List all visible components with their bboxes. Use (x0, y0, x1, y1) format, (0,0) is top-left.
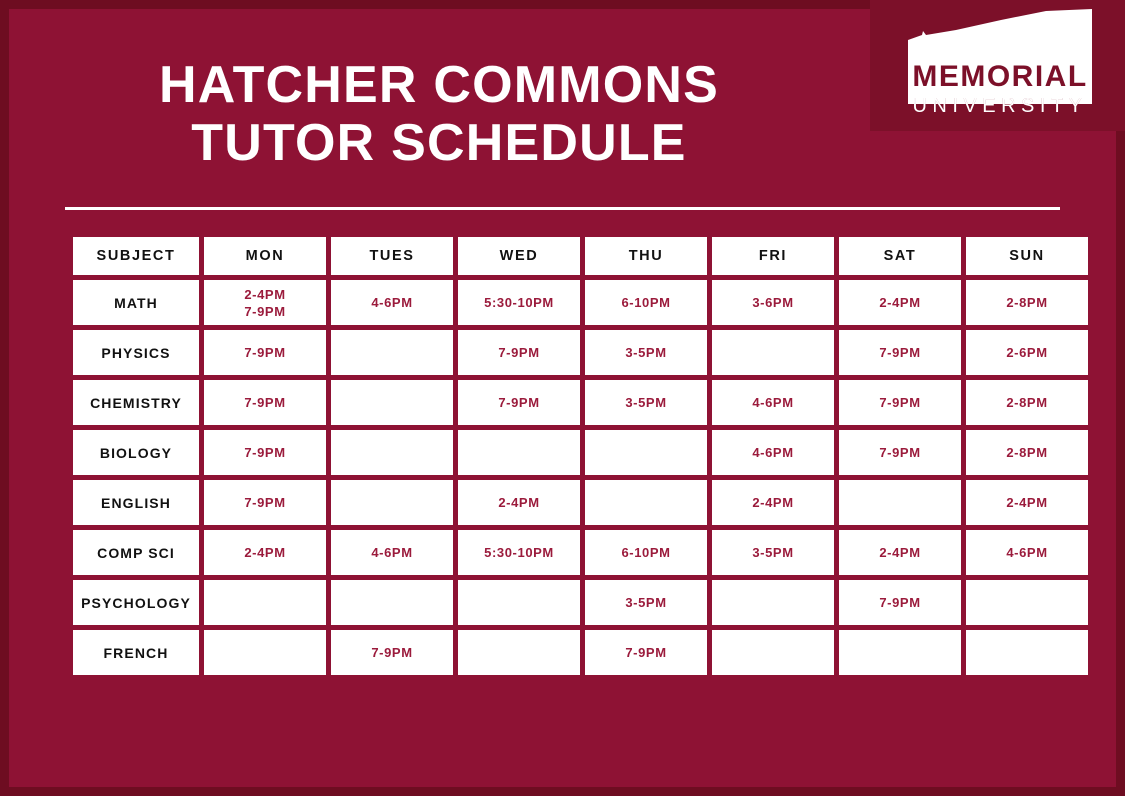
time-slot: 7-9PM (585, 644, 707, 661)
time-slot: 7-9PM (204, 394, 326, 411)
table-row: COMP SCI2-4PM4-6PM5:30-10PM6-10PM3-5PM2-… (73, 530, 1088, 575)
time-slot: 2-4PM (204, 544, 326, 561)
schedule-cell (331, 580, 453, 625)
schedule-cell: 7-9PM (585, 630, 707, 675)
schedule-cell: 7-9PM (839, 380, 961, 425)
schedule-cell: 4-6PM (966, 530, 1088, 575)
time-slot: 7-9PM (839, 394, 961, 411)
column-header-fri: FRI (712, 237, 834, 275)
schedule-cell: 4-6PM (331, 280, 453, 325)
time-slot: 7-9PM (458, 344, 580, 361)
subject-cell: ENGLISH (73, 480, 199, 525)
table-row: ENGLISH7-9PM2-4PM2-4PM2-4PM (73, 480, 1088, 525)
table-row: BIOLOGY7-9PM4-6PM7-9PM2-8PM (73, 430, 1088, 475)
tutor-schedule-poster: HATCHER COMMONS TUTOR SCHEDULE MEMORIAL … (0, 0, 1125, 796)
time-slot: 4-6PM (712, 444, 834, 461)
schedule-cell: 2-8PM (966, 380, 1088, 425)
time-slot: 2-4PM (712, 494, 834, 511)
schedule-cell: 2-8PM (966, 430, 1088, 475)
schedule-cell (712, 330, 834, 375)
schedule-cell (839, 630, 961, 675)
schedule-cell: 3-6PM (712, 280, 834, 325)
schedule-cell (966, 580, 1088, 625)
schedule-cell: 2-4PM (966, 480, 1088, 525)
time-slot: 7-9PM (204, 494, 326, 511)
time-slot: 6-10PM (585, 544, 707, 561)
schedule-cell: 3-5PM (585, 580, 707, 625)
time-slot: 4-6PM (331, 294, 453, 311)
time-slot: 6-10PM (585, 294, 707, 311)
column-header-tues: TUES (331, 237, 453, 275)
time-slot: 4-6PM (712, 394, 834, 411)
time-slot: 4-6PM (331, 544, 453, 561)
title-line-1: HATCHER COMMONS (9, 56, 869, 114)
schedule-cell: 7-9PM (458, 330, 580, 375)
time-slot: 3-6PM (712, 294, 834, 311)
time-slot: 2-4PM (839, 544, 961, 561)
schedule-cell: 3-5PM (585, 380, 707, 425)
schedule-cell: 7-9PM (331, 630, 453, 675)
schedule-cell: 4-6PM (712, 430, 834, 475)
time-slot: 2-4PM (966, 494, 1088, 511)
schedule-cell: 6-10PM (585, 280, 707, 325)
table-header-row: SUBJECT MON TUES WED THU FRI SAT SUN (73, 237, 1088, 275)
column-header-subject: SUBJECT (73, 237, 199, 275)
subject-cell: COMP SCI (73, 530, 199, 575)
time-slot: 7-9PM (204, 344, 326, 361)
column-header-thu: THU (585, 237, 707, 275)
time-slot: 5:30-10PM (458, 544, 580, 561)
schedule-cell (331, 380, 453, 425)
subject-cell: CHEMISTRY (73, 380, 199, 425)
schedule-table-body: MATH2-4PM7-9PM4-6PM5:30-10PM6-10PM3-6PM2… (73, 280, 1088, 675)
time-slot: 4-6PM (966, 544, 1088, 561)
schedule-cell: 7-9PM (839, 430, 961, 475)
schedule-cell: 7-9PM (839, 580, 961, 625)
time-slot: 7-9PM (458, 394, 580, 411)
table-row: PSYCHOLOGY3-5PM7-9PM (73, 580, 1088, 625)
schedule-cell: 4-6PM (712, 380, 834, 425)
logo-line-2: UNIVERSITY (912, 95, 1087, 117)
time-slot: 2-8PM (966, 294, 1088, 311)
time-slot: 7-9PM (839, 594, 961, 611)
time-slot: 3-5PM (585, 594, 707, 611)
time-slot: 3-5PM (585, 344, 707, 361)
time-slot: 2-8PM (966, 394, 1088, 411)
time-slot: 2-4PM (839, 294, 961, 311)
schedule-cell: 7-9PM (204, 480, 326, 525)
header-divider (65, 207, 1060, 210)
schedule-cell (458, 580, 580, 625)
time-slot: 7-9PM (204, 444, 326, 461)
subject-cell: FRENCH (73, 630, 199, 675)
schedule-cell: 2-4PM (839, 530, 961, 575)
time-slot: 2-4PM (204, 286, 326, 303)
poster-title: HATCHER COMMONS TUTOR SCHEDULE (9, 56, 869, 172)
time-slot: 2-6PM (966, 344, 1088, 361)
schedule-cell (458, 430, 580, 475)
subject-cell: MATH (73, 280, 199, 325)
title-line-2: TUTOR SCHEDULE (9, 114, 869, 172)
schedule-cell: 2-8PM (966, 280, 1088, 325)
schedule-cell: 7-9PM (458, 380, 580, 425)
schedule-cell: 2-4PM (458, 480, 580, 525)
schedule-cell: 2-4PM (839, 280, 961, 325)
time-slot: 3-5PM (712, 544, 834, 561)
time-slot: 2-8PM (966, 444, 1088, 461)
schedule-cell (712, 580, 834, 625)
schedule-cell (331, 430, 453, 475)
schedule-cell: 4-6PM (331, 530, 453, 575)
table-row: MATH2-4PM7-9PM4-6PM5:30-10PM6-10PM3-6PM2… (73, 280, 1088, 325)
schedule-cell: 7-9PM (204, 380, 326, 425)
schedule-cell (331, 480, 453, 525)
column-header-sun: SUN (966, 237, 1088, 275)
schedule-cell (585, 480, 707, 525)
schedule-table: SUBJECT MON TUES WED THU FRI SAT SUN MAT… (68, 232, 1093, 680)
schedule-cell (712, 630, 834, 675)
schedule-table-wrapper: SUBJECT MON TUES WED THU FRI SAT SUN MAT… (68, 232, 1062, 680)
schedule-cell: 3-5PM (585, 330, 707, 375)
column-header-wed: WED (458, 237, 580, 275)
schedule-cell: 6-10PM (585, 530, 707, 575)
subject-cell: BIOLOGY (73, 430, 199, 475)
memorial-university-logo: MEMORIAL UNIVERSITY UNIVERSITY (870, 0, 1125, 131)
schedule-cell: 7-9PM (204, 430, 326, 475)
schedule-cell: 7-9PM (204, 330, 326, 375)
schedule-cell (585, 430, 707, 475)
table-row: FRENCH7-9PM7-9PM (73, 630, 1088, 675)
schedule-cell: 3-5PM (712, 530, 834, 575)
time-slot: 7-9PM (839, 344, 961, 361)
time-slot: 3-5PM (585, 394, 707, 411)
poster-header: HATCHER COMMONS TUTOR SCHEDULE MEMORIAL … (9, 9, 1116, 206)
time-slot: 7-9PM (331, 644, 453, 661)
schedule-cell: 2-4PM (712, 480, 834, 525)
university-flag-mark: MEMORIAL UNIVERSITY UNIVERSITY (906, 8, 1096, 120)
schedule-cell: 5:30-10PM (458, 530, 580, 575)
table-row: PHYSICS7-9PM7-9PM3-5PM7-9PM2-6PM (73, 330, 1088, 375)
schedule-cell (966, 630, 1088, 675)
subject-cell: PSYCHOLOGY (73, 580, 199, 625)
schedule-cell: 2-4PM7-9PM (204, 280, 326, 325)
subject-cell: PHYSICS (73, 330, 199, 375)
time-slot: 5:30-10PM (458, 294, 580, 311)
schedule-cell: 2-6PM (966, 330, 1088, 375)
schedule-cell: 2-4PM (204, 530, 326, 575)
column-header-mon: MON (204, 237, 326, 275)
schedule-cell (204, 580, 326, 625)
schedule-cell: 5:30-10PM (458, 280, 580, 325)
time-slot: 2-4PM (458, 494, 580, 511)
schedule-cell (839, 480, 961, 525)
column-header-sat: SAT (839, 237, 961, 275)
table-row: CHEMISTRY7-9PM7-9PM3-5PM4-6PM7-9PM2-8PM (73, 380, 1088, 425)
schedule-cell (204, 630, 326, 675)
schedule-cell (458, 630, 580, 675)
schedule-cell (331, 330, 453, 375)
schedule-cell: 7-9PM (839, 330, 961, 375)
time-slot: 7-9PM (839, 444, 961, 461)
time-slot: 7-9PM (204, 303, 326, 320)
